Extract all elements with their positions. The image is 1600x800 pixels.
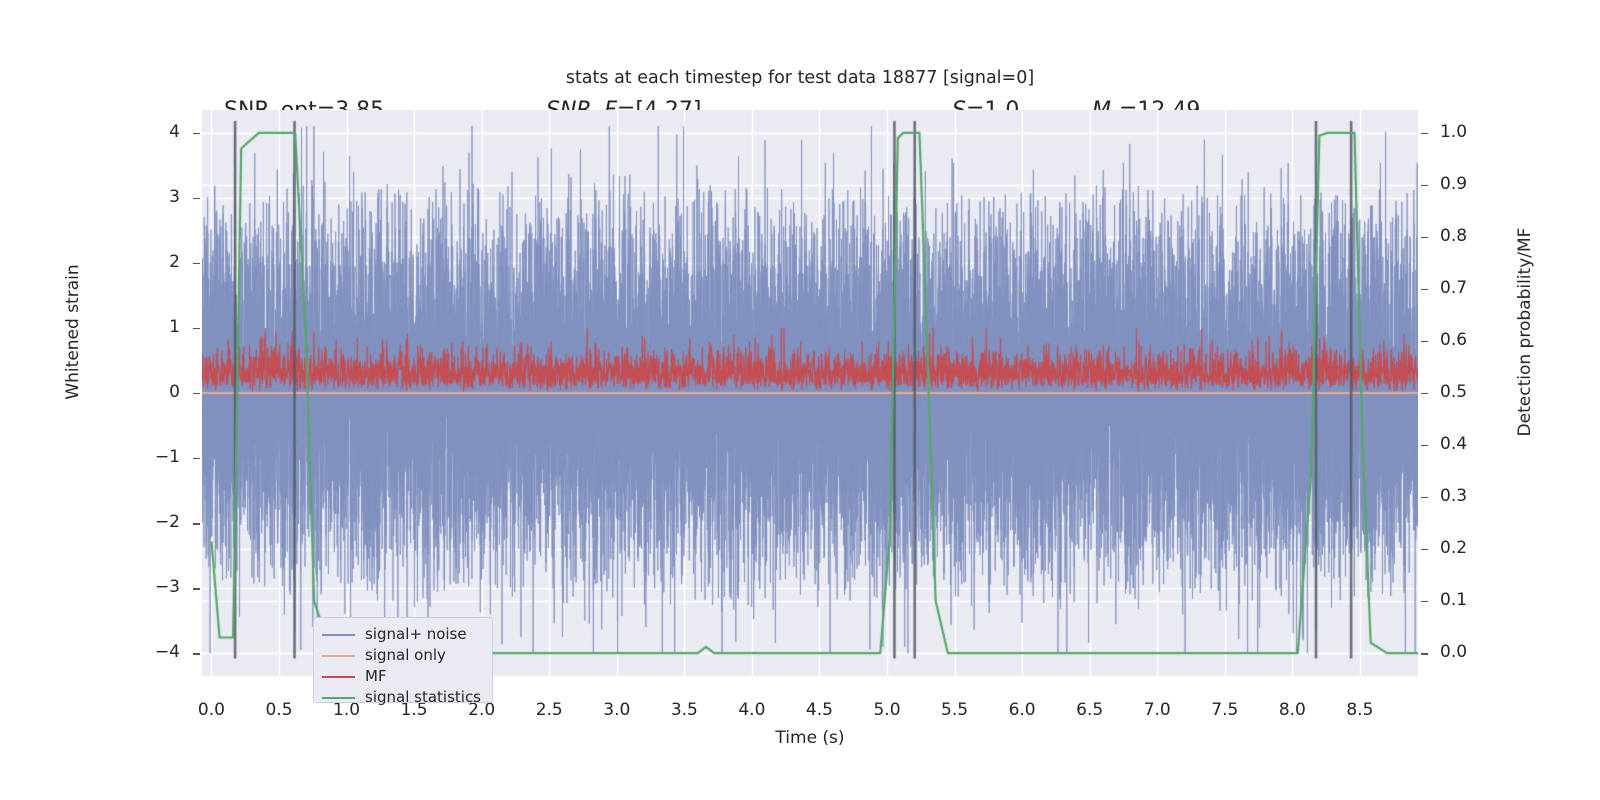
y-tick-mark-right <box>1421 341 1428 342</box>
x-tick-label: 8.5 <box>1330 700 1390 720</box>
x-tick-label: 3.5 <box>654 700 714 720</box>
y-tick-mark-left <box>193 198 200 199</box>
y-tick-label-right: 0.8 <box>1440 226 1510 246</box>
y-tick-mark-left <box>193 653 200 654</box>
x-tick-label: 0.0 <box>181 700 241 720</box>
x-tick-label: 0.5 <box>249 700 309 720</box>
y-tick-mark-left <box>193 458 200 459</box>
plot-area[interactable] <box>202 110 1418 676</box>
x-axis-label: Time (s) <box>202 728 1418 748</box>
y-tick-label-right: 1.0 <box>1440 122 1510 142</box>
y-tick-label-left: 3 <box>110 187 180 207</box>
y-tick-mark-left <box>193 133 200 134</box>
x-tick-label: 4.0 <box>722 700 782 720</box>
legend-swatch-3 <box>322 697 355 699</box>
y-tick-mark-left <box>193 328 200 329</box>
legend-label: signal only <box>365 648 446 663</box>
y-tick-label-right: 0.4 <box>1440 434 1510 454</box>
legend-swatch-0 <box>322 634 355 636</box>
x-tick-label: 7.0 <box>1127 700 1187 720</box>
chart-title: stats at each timestep for test data 188… <box>0 68 1600 88</box>
y-tick-mark-left <box>193 588 200 589</box>
y-tick-label-left: 0 <box>110 382 180 402</box>
y-tick-label-right: 0.5 <box>1440 382 1510 402</box>
x-tick-label: 4.5 <box>789 700 849 720</box>
y-tick-label-right: 0.2 <box>1440 538 1510 558</box>
y-tick-label-left: −3 <box>110 577 180 597</box>
y-tick-mark-right <box>1421 653 1428 654</box>
y-tick-label-right: 0.3 <box>1440 486 1510 506</box>
y-tick-label-left: 2 <box>110 252 180 272</box>
y-tick-label-right: 0.6 <box>1440 330 1510 350</box>
x-tick-label: 7.5 <box>1195 700 1255 720</box>
legend[interactable]: signal+ noisesignal onlyMFsignal statist… <box>313 617 493 703</box>
y-tick-label-left: −4 <box>110 642 180 662</box>
legend-swatch-2 <box>322 676 355 678</box>
y-tick-mark-right <box>1421 237 1428 238</box>
y-tick-mark-right <box>1421 549 1428 550</box>
y-tick-mark-left <box>193 523 200 524</box>
plot-canvas <box>202 110 1418 676</box>
legend-item[interactable]: signal+ noise <box>314 624 492 645</box>
y-tick-label-right: 0.7 <box>1440 278 1510 298</box>
legend-item[interactable]: signal only <box>314 645 492 666</box>
figure-root: stats at each timestep for test data 188… <box>0 0 1600 800</box>
y-tick-mark-right <box>1421 185 1428 186</box>
x-tick-label: 2.5 <box>519 700 579 720</box>
legend-swatch-1 <box>322 655 355 657</box>
y-tick-mark-left <box>193 263 200 264</box>
legend-label: signal statistics <box>365 690 481 705</box>
y-tick-label-left: 4 <box>110 122 180 142</box>
legend-item[interactable]: MF <box>314 666 492 687</box>
y-tick-label-right: 0.1 <box>1440 590 1510 610</box>
y-tick-mark-left <box>193 393 200 394</box>
y-tick-label-left: −2 <box>110 512 180 532</box>
y-tick-label-left: 1 <box>110 317 180 337</box>
x-tick-label: 3.0 <box>587 700 647 720</box>
y-tick-mark-right <box>1421 133 1428 134</box>
y-tick-mark-right <box>1421 289 1428 290</box>
y-tick-mark-right <box>1421 445 1428 446</box>
y-tick-label-right: 0.9 <box>1440 174 1510 194</box>
x-tick-label: 8.0 <box>1262 700 1322 720</box>
legend-label: signal+ noise <box>365 627 467 642</box>
y-tick-mark-right <box>1421 393 1428 394</box>
y-tick-mark-right <box>1421 497 1428 498</box>
x-tick-label: 6.0 <box>992 700 1052 720</box>
x-tick-label: 5.0 <box>857 700 917 720</box>
x-tick-label: 6.5 <box>1060 700 1120 720</box>
legend-item[interactable]: signal statistics <box>314 687 492 708</box>
x-tick-label: 5.5 <box>925 700 985 720</box>
y-axis-label-left: Whitened strain <box>63 212 83 452</box>
legend-label: MF <box>365 669 387 684</box>
y-axis-label-right: Detection probability/MF <box>1515 182 1535 482</box>
y-tick-label-left: −1 <box>110 447 180 467</box>
y-tick-label-right: 0.0 <box>1440 642 1510 662</box>
y-tick-mark-right <box>1421 601 1428 602</box>
